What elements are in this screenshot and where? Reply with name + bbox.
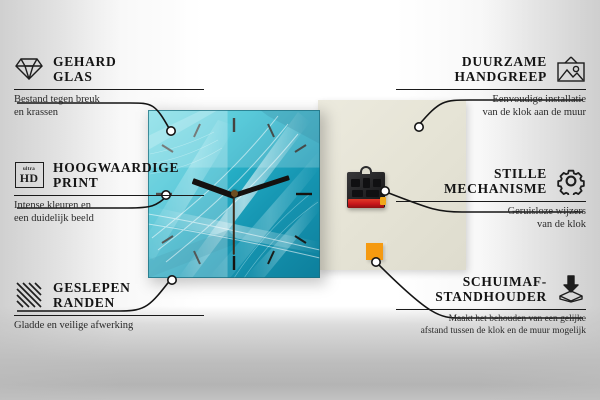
divider <box>14 315 204 316</box>
feature-header: STILLE MECHANISME <box>396 164 586 198</box>
floor-surface <box>0 332 600 400</box>
foam-spacer-side <box>383 240 387 261</box>
ultra-hd-icon: ultra HD <box>14 160 44 190</box>
feature-title: DUURZAME HANDGREEP <box>454 54 547 84</box>
hanging-picture-icon <box>556 54 586 84</box>
mechanism-detail <box>352 190 363 197</box>
feature-description: Gladde en veilige afwerking <box>14 320 204 333</box>
divider <box>396 201 586 202</box>
mechanism-detail <box>373 179 381 187</box>
feature-hoogwaardige-print: ultra HD HOOGWAARDIGE PRINT Intense kleu… <box>14 158 204 225</box>
gear-icon <box>556 166 586 196</box>
feature-title: STILLE MECHANISME <box>444 166 547 196</box>
feature-header: GESLEPEN RANDEN <box>14 278 204 312</box>
feature-title: SCHUIMAF- STANDHOUDER <box>435 274 547 304</box>
battery <box>348 199 384 208</box>
feature-gehard-glas: GEHARD GLAS Bestand tegen breuk en krass… <box>14 52 204 119</box>
mechanism-hanger-icon <box>360 166 372 174</box>
foam-spacer <box>366 243 383 260</box>
feature-description: Eenvoudige installatie van de klok aan d… <box>396 94 586 119</box>
mechanism-detail <box>363 178 370 188</box>
press-down-pad-icon <box>556 274 586 304</box>
feature-description: Maakt het behouden van een gelijke afsta… <box>396 314 586 337</box>
feature-title: HOOGWAARDIGE PRINT <box>53 160 179 190</box>
feature-header: SCHUIMAF- STANDHOUDER <box>396 272 586 306</box>
divider <box>396 309 586 310</box>
feature-title: GEHARD GLAS <box>53 54 116 84</box>
feature-title: GESLEPEN RANDEN <box>53 280 131 310</box>
clock-hub <box>231 190 238 197</box>
mechanism-detail <box>351 179 360 187</box>
feature-stille-mechanisme: STILLE MECHANISME Geruisloze wijzers van… <box>396 164 586 231</box>
ultra-hd-icon-main-label: HD <box>20 172 38 184</box>
feature-geslepen-randen: GESLEPEN RANDEN Gladde en veilige afwerk… <box>14 278 204 333</box>
divider <box>14 89 204 90</box>
feature-header: GEHARD GLAS <box>14 52 204 86</box>
feature-header: ultra HD HOOGWAARDIGE PRINT <box>14 158 204 192</box>
battery-terminal <box>380 197 386 205</box>
feature-description: Bestand tegen breuk en krassen <box>14 94 204 119</box>
clock-second-hand <box>233 195 235 255</box>
diamond-icon <box>14 54 44 84</box>
feature-duurzame-handgreep: DUURZAME HANDGREEP Eenvoudige installati… <box>396 52 586 119</box>
feature-header: DUURZAME HANDGREEP <box>396 52 586 86</box>
infographic-stage: GEHARD GLAS Bestand tegen breuk en krass… <box>0 0 600 400</box>
bevelled-edge-icon <box>14 280 44 310</box>
divider <box>396 89 586 90</box>
feature-schuimafstandhouder: SCHUIMAF- STANDHOUDER Maakt het behouden… <box>396 272 586 337</box>
mechanism-detail <box>366 190 379 197</box>
feature-description: Intense kleuren en een duidelijk beeld <box>14 200 204 225</box>
divider <box>14 195 204 196</box>
feature-description: Geruisloze wijzers van de klok <box>396 206 586 231</box>
